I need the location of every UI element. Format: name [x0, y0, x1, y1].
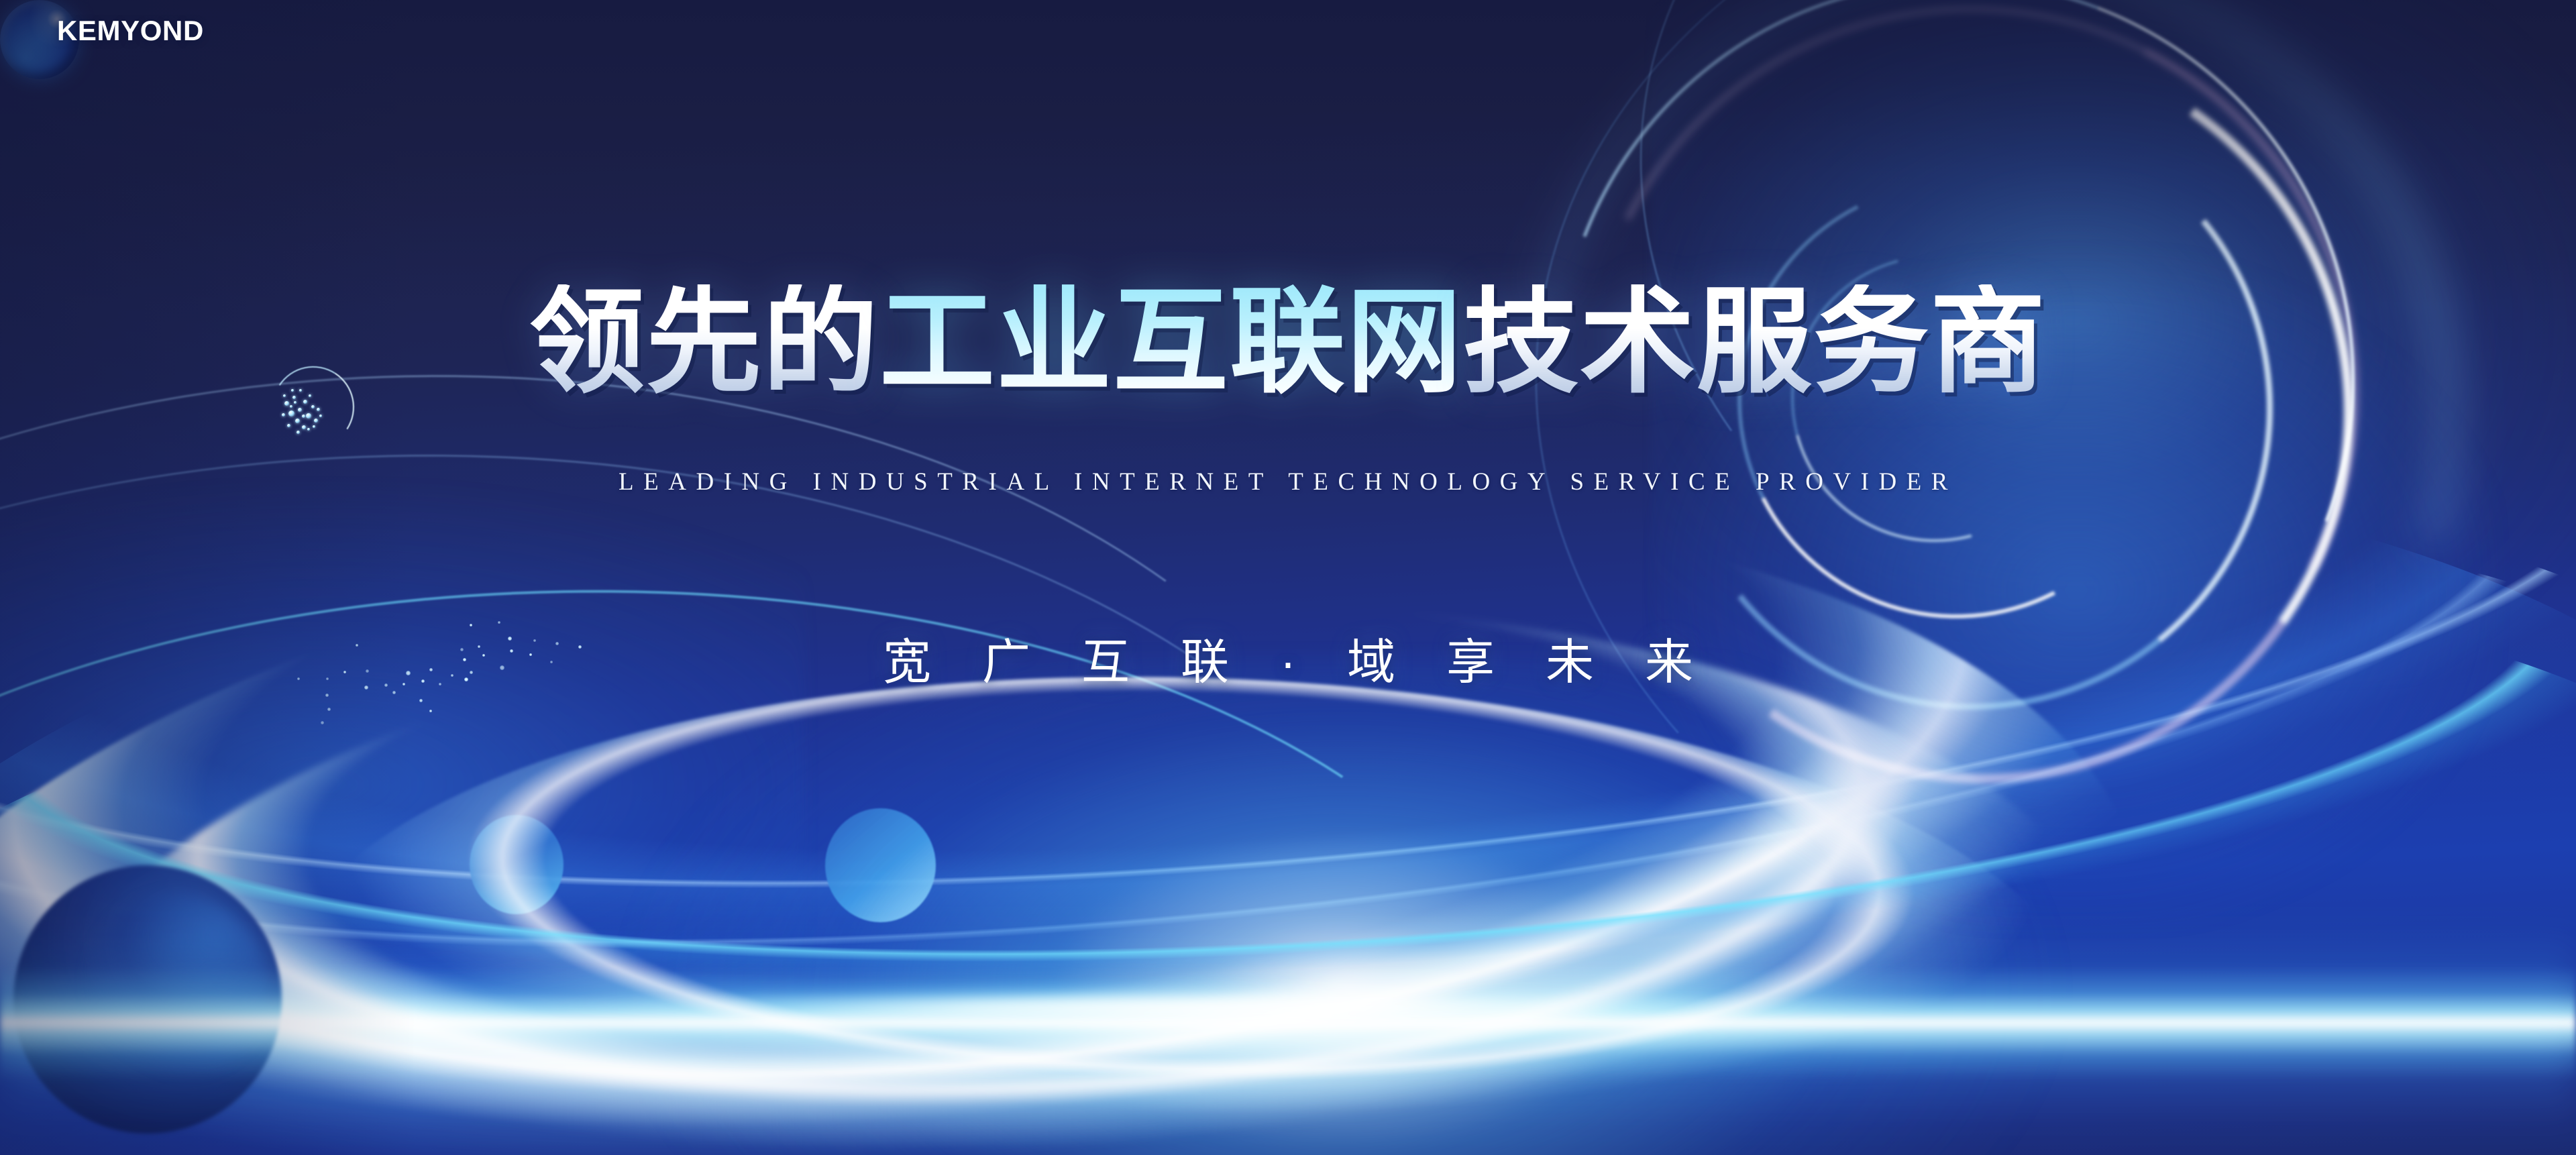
light-arc — [1458, 0, 2576, 1109]
headline-segment-highlight: 工业互联网 — [879, 284, 1463, 400]
brand-logo: KEMYOND — [57, 15, 204, 47]
brand-tagline: 宽 广 互 联 · 域 享 未 来 — [0, 622, 2576, 693]
page-title: 领先的工业互联网技术服务商 — [0, 284, 2576, 400]
promo-banner: KEMYOND 领先的工业互联网技术服务商 LEADING INDUSTRIAL… — [0, 0, 2576, 1155]
headline-segment-lead: 领先的 — [529, 284, 879, 400]
headline-segment-tail: 技术服务商 — [1463, 284, 2047, 400]
headline-subtitle-english: LEADING INDUSTRIAL INTERNET TECHNOLOGY S… — [0, 467, 2576, 496]
